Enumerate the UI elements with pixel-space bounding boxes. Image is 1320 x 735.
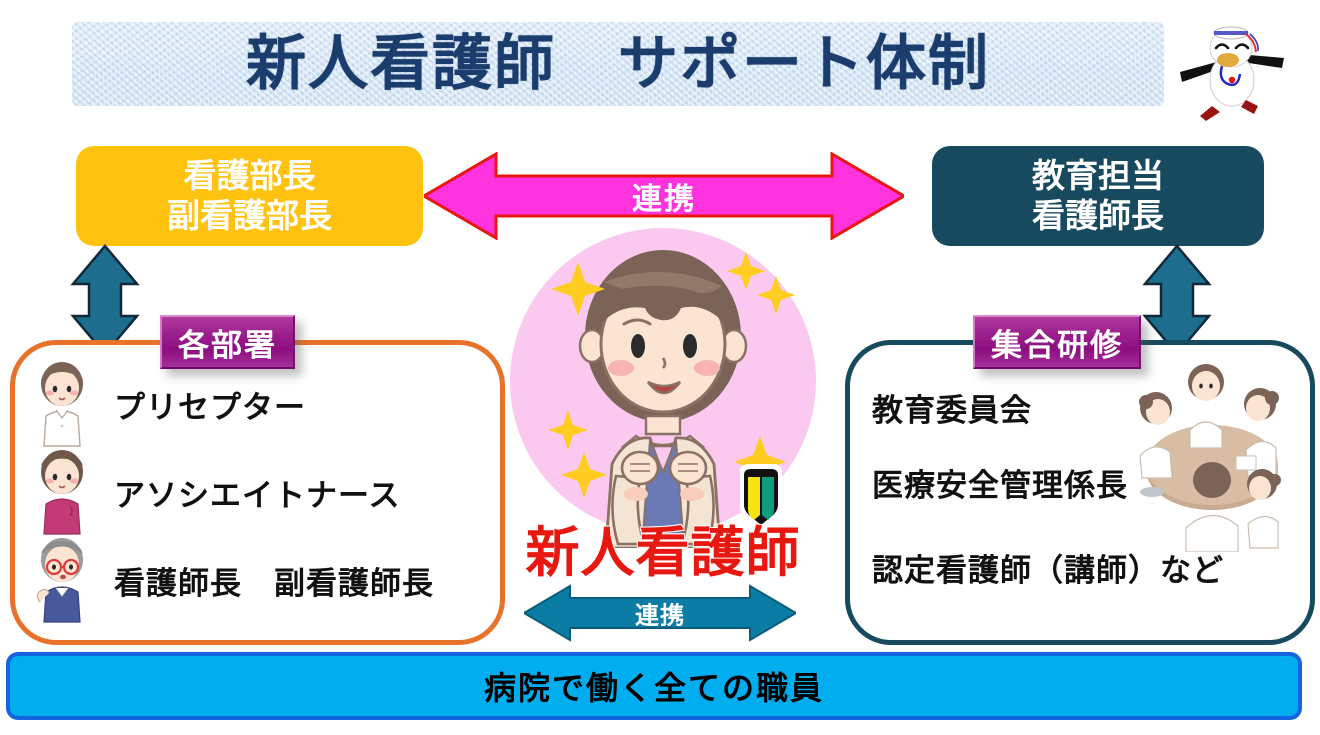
bottom-bar-all-staff[interactable]: 病院で働く全ての職員 (6, 652, 1302, 720)
arrow-cooperation-bottom: 連携 (524, 584, 796, 642)
box-education-head-nurse-line2: 看護師長 (1032, 196, 1164, 236)
badge-departments: 各部署 (160, 315, 295, 369)
group-training-illustration (1120, 352, 1305, 552)
bird-nurse-mascot-icon (1172, 14, 1292, 124)
title-banner: 新人看護師 サポート体制 (72, 22, 1164, 106)
box-nursing-director-line2: 副看護部長 (167, 196, 332, 236)
list-item-preceptor[interactable]: プリセプター (26, 360, 306, 448)
bottom-bar-all-staff-label: 病院で働く全ての職員 (484, 663, 824, 709)
box-education-head-nurse[interactable]: 教育担当 看護師長 (932, 146, 1264, 246)
list-item-associate-nurse-label: アソシエイトナース (114, 470, 400, 515)
arrow-cooperation-bottom-label: 連携 (524, 596, 796, 631)
badge-departments-label: 各部署 (178, 320, 277, 365)
senior-nurse-glasses-icon (26, 536, 98, 624)
list-item-safety-manager[interactable]: 医療安全管理係長 (872, 460, 1128, 505)
list-item-safety-manager-label: 医療安全管理係長 (872, 460, 1128, 505)
list-item-associate-nurse[interactable]: アソシエイトナース (26, 448, 400, 536)
list-item-head-nurse-label: 看護師長 副看護師長 (114, 558, 434, 603)
box-nursing-director-line1: 看護部長 (184, 156, 316, 196)
list-item-certified-nurse[interactable]: 認定看護師（講師）など (872, 545, 1224, 590)
box-education-head-nurse-line1: 教育担当 (1032, 156, 1164, 196)
center-new-nurse-group (488, 228, 838, 548)
list-item-certified-nurse-label: 認定看護師（講師）など (872, 545, 1224, 590)
diagram-canvas: 新人看護師 サポート体制 (0, 0, 1320, 735)
beginner-leaf-mark-icon (740, 464, 782, 530)
nurse-magenta-scrubs-icon (26, 448, 98, 536)
arrow-cooperation-top: 連携 (424, 152, 904, 240)
list-item-preceptor-label: プリセプター (114, 382, 306, 427)
center-title-new-nurse: 新人看護師 (488, 526, 838, 580)
list-item-education-committee-label: 教育委員会 (872, 385, 1032, 430)
list-item-education-committee[interactable]: 教育委員会 (872, 385, 1032, 430)
new-nurse-character-icon (488, 228, 838, 548)
badge-group-training: 集合研修 (973, 315, 1141, 369)
arrow-cooperation-top-label: 連携 (424, 174, 904, 218)
list-item-head-nurse[interactable]: 看護師長 副看護師長 (26, 536, 434, 624)
box-nursing-director[interactable]: 看護部長 副看護部長 (76, 146, 423, 246)
page-title: 新人看護師 サポート体制 (246, 34, 990, 94)
badge-group-training-label: 集合研修 (991, 320, 1123, 365)
nurse-white-uniform-icon (26, 360, 98, 448)
